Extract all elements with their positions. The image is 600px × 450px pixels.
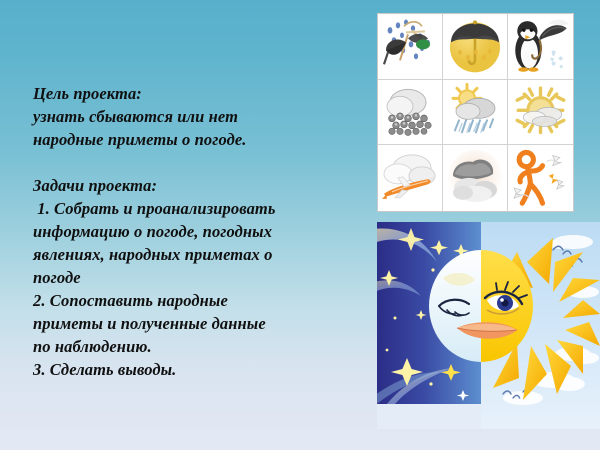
text-line-spacer	[33, 151, 363, 174]
weather-grid-cell	[443, 80, 508, 146]
text-line: Цель проекта:	[33, 82, 363, 105]
text-line: 3. Сделать выводы.	[33, 358, 363, 381]
penguin-umbrella-snow-icon	[508, 14, 573, 79]
text-line: приметы и полученные данные	[33, 312, 363, 335]
slide-canvas: Цель проекта: узнать сбываются или нет н…	[0, 0, 600, 450]
yellow-umbrella-rain-icon	[443, 14, 507, 79]
text-line: 2. Сопоставить народные	[33, 289, 363, 312]
weather-grid-cell	[378, 145, 443, 211]
text-line: Задачи проекта:	[33, 174, 363, 197]
text-line: информацию о погоде, погодных	[33, 220, 363, 243]
sun-cloud-rain-icon	[443, 80, 507, 145]
text-line: народные приметы о погоде.	[33, 128, 363, 151]
windy-person-icon	[508, 145, 573, 211]
weather-grid-cell	[443, 14, 508, 80]
broken-umbrella-rain-icon	[378, 14, 442, 79]
project-goal-and-tasks-text: Цель проекта: узнать сбываются или нет н…	[33, 82, 363, 381]
airplane-clouds-icon	[378, 145, 442, 211]
weather-grid-cell	[443, 145, 508, 211]
weather-grid-cell	[508, 80, 573, 146]
text-line: 1. Собрать и проанализировать	[33, 197, 363, 220]
weather-grid-cell	[378, 80, 443, 146]
text-line: по наблюдению.	[33, 335, 363, 358]
text-line: погоде	[33, 266, 363, 289]
weather-grid-cell	[508, 14, 573, 80]
day-night-sun-moon-illustration	[377, 222, 600, 429]
storm-cloud-icon	[443, 145, 507, 211]
weather-grid-cell	[508, 145, 573, 211]
weather-icon-grid	[377, 13, 574, 212]
sun-clouds-icon	[508, 80, 573, 145]
cloud-hail-icon	[378, 80, 442, 145]
text-line: явлениях, народных приметах о	[33, 243, 363, 266]
text-line: узнать сбываются или нет	[33, 105, 363, 128]
weather-grid-cell	[378, 14, 443, 80]
